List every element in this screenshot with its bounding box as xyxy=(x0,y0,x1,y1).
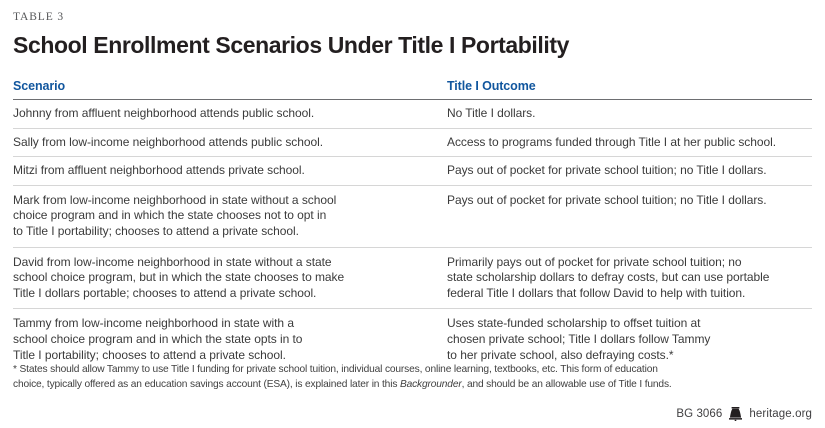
cell-line: choice program and in which the state ch… xyxy=(13,208,435,224)
cell-outcome: Uses state-funded scholarship to offset … xyxy=(447,309,812,370)
footnote-text-before: choice, typically offered as an educatio… xyxy=(13,379,400,390)
cell-scenario: David from low-income neighborhood in st… xyxy=(13,247,447,309)
table-row: Mitzi from affluent neighborhood attends… xyxy=(13,157,812,186)
liberty-bell-icon xyxy=(729,407,742,421)
cell-line: Title I dollars portable; chooses to att… xyxy=(13,286,435,302)
report-id: BG 3066 xyxy=(676,408,722,420)
cell-scenario: Johnny from affluent neighborhood attend… xyxy=(13,100,447,129)
footnote-italic-term: Backgrounder xyxy=(400,379,462,390)
cell-line: school choice program and in which the s… xyxy=(13,332,435,348)
table-row: Mark from low-income neighborhood in sta… xyxy=(13,185,812,247)
table-header-row: Scenario Title I Outcome xyxy=(13,79,812,100)
table-row: Tammy from low-income neighborhood in st… xyxy=(13,309,812,370)
scenarios-table: Scenario Title I Outcome Johnny from aff… xyxy=(13,79,812,370)
column-header-outcome: Title I Outcome xyxy=(447,79,812,100)
cell-outcome: No Title I dollars. xyxy=(447,100,812,129)
cell-outcome: Pays out of pocket for private school tu… xyxy=(447,157,812,186)
footer: BG 3066 heritage.org xyxy=(676,407,812,421)
cell-line: Johnny from affluent neighborhood attend… xyxy=(13,106,435,122)
cell-line: David from low-income neighborhood in st… xyxy=(13,255,435,271)
cell-line: Tammy from low-income neighborhood in st… xyxy=(13,316,435,332)
cell-line: state scholarship dollars to defray cost… xyxy=(447,270,800,286)
table-page: TABLE 3 School Enrollment Scenarios Unde… xyxy=(0,0,825,428)
cell-scenario: Tammy from low-income neighborhood in st… xyxy=(13,309,447,370)
cell-line: Mitzi from affluent neighborhood attends… xyxy=(13,163,435,179)
cell-line: school choice program, but in which the … xyxy=(13,270,435,286)
cell-line: to her private school, also defraying co… xyxy=(447,348,800,364)
cell-line: Primarily pays out of pocket for private… xyxy=(447,255,800,271)
cell-scenario: Mitzi from affluent neighborhood attends… xyxy=(13,157,447,186)
table-number-label: TABLE 3 xyxy=(13,0,812,24)
cell-outcome: Primarily pays out of pocket for private… xyxy=(447,247,812,309)
cell-outcome: Pays out of pocket for private school tu… xyxy=(447,185,812,247)
footnote-text-after: , and should be an allowable use of Titl… xyxy=(462,379,672,390)
cell-line: federal Title I dollars that follow Davi… xyxy=(447,286,800,302)
cell-line: to Title I portability; chooses to atten… xyxy=(13,224,435,240)
table-body: Johnny from affluent neighborhood attend… xyxy=(13,100,812,371)
footnote-line-1: * States should allow Tammy to use Title… xyxy=(13,363,812,378)
footnote-line-2: choice, typically offered as an educatio… xyxy=(13,378,812,393)
cell-line: Pays out of pocket for private school tu… xyxy=(447,193,800,209)
cell-line: Uses state-funded scholarship to offset … xyxy=(447,316,800,332)
cell-line: Sally from low-income neighborhood atten… xyxy=(13,135,435,151)
cell-scenario: Mark from low-income neighborhood in sta… xyxy=(13,185,447,247)
cell-line: Title I portability; chooses to attend a… xyxy=(13,348,435,364)
table-row: Johnny from affluent neighborhood attend… xyxy=(13,100,812,129)
cell-scenario: Sally from low-income neighborhood atten… xyxy=(13,128,447,157)
site-url: heritage.org xyxy=(749,408,812,420)
cell-line: Pays out of pocket for private school tu… xyxy=(447,163,800,179)
cell-line: Mark from low-income neighborhood in sta… xyxy=(13,193,435,209)
table-row: David from low-income neighborhood in st… xyxy=(13,247,812,309)
cell-outcome: Access to programs funded through Title … xyxy=(447,128,812,157)
table-row: Sally from low-income neighborhood atten… xyxy=(13,128,812,157)
cell-line: Access to programs funded through Title … xyxy=(447,135,800,151)
footnote: * States should allow Tammy to use Title… xyxy=(13,363,812,392)
cell-line: No Title I dollars. xyxy=(447,106,800,122)
cell-line: chosen private school; Title I dollars f… xyxy=(447,332,800,348)
page-title: School Enrollment Scenarios Under Title … xyxy=(13,32,812,59)
column-header-scenario: Scenario xyxy=(13,79,447,100)
